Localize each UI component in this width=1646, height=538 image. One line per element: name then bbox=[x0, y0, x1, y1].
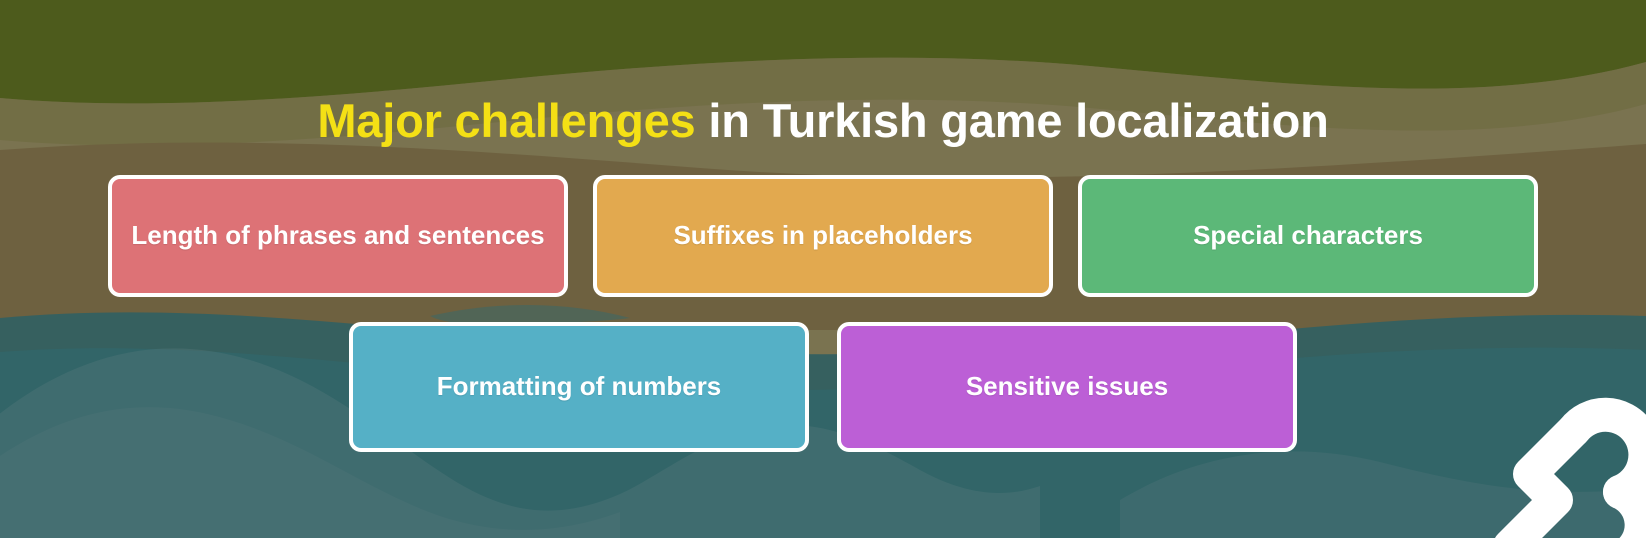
challenge-card-formatting-of-numbers[interactable]: Formatting of numbers bbox=[349, 322, 809, 452]
title-plain-text: in Turkish game localization bbox=[695, 94, 1328, 147]
challenge-card-label: Length of phrases and sentences bbox=[131, 219, 544, 253]
challenge-card-label: Sensitive issues bbox=[966, 370, 1168, 404]
challenge-card-label: Special characters bbox=[1193, 219, 1423, 253]
card-row-bottom: Formatting of numbers Sensitive issues bbox=[0, 322, 1646, 452]
challenge-card-sensitive-issues[interactable]: Sensitive issues bbox=[837, 322, 1297, 452]
title-accent-text: Major challenges bbox=[317, 94, 695, 147]
title-container: Major challenges in Turkish game localiz… bbox=[0, 64, 1646, 180]
challenge-card-suffixes-in-placeholders[interactable]: Suffixes in placeholders bbox=[593, 175, 1053, 297]
card-row-top: Length of phrases and sentences Suffixes… bbox=[0, 175, 1646, 297]
slide-canvas: Major challenges in Turkish game localiz… bbox=[0, 0, 1646, 538]
page-title: Major challenges in Turkish game localiz… bbox=[317, 95, 1328, 148]
challenge-card-label: Formatting of numbers bbox=[437, 370, 722, 404]
challenge-card-special-characters[interactable]: Special characters bbox=[1078, 175, 1538, 297]
challenge-card-label: Suffixes in placeholders bbox=[673, 219, 972, 253]
challenge-card-length-of-phrases[interactable]: Length of phrases and sentences bbox=[108, 175, 568, 297]
